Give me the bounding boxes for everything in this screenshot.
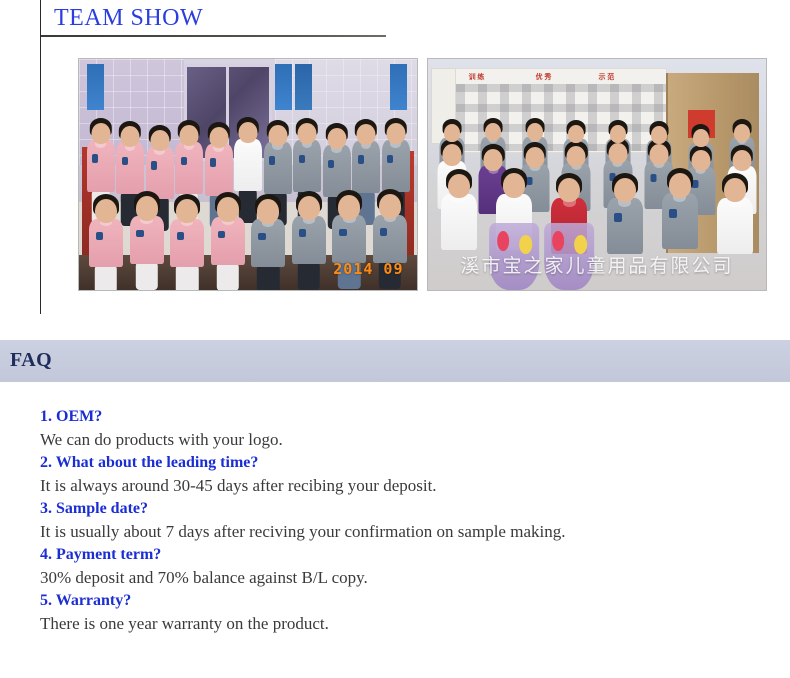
notice-board-title: 优 秀 xyxy=(536,72,552,82)
legs xyxy=(217,263,239,290)
shirt xyxy=(292,216,326,264)
face xyxy=(669,173,691,198)
shirt xyxy=(717,198,753,254)
faq-answer: 30% deposit and 70% balance against B/L … xyxy=(0,566,790,589)
face xyxy=(503,173,525,198)
face xyxy=(525,147,544,168)
face xyxy=(298,196,320,221)
photo-canvas-ceremony: 训 练 优 秀 示 范 溪市宝之家儿童用品有限公司 xyxy=(428,59,766,290)
person xyxy=(248,184,289,276)
faq-question: 5. Warranty? xyxy=(0,589,790,612)
face xyxy=(650,144,669,165)
legs xyxy=(135,262,157,290)
face xyxy=(732,150,751,171)
face xyxy=(527,123,543,141)
photo-watermark: 溪市宝之家儿童用品有限公司 xyxy=(428,251,766,278)
legs xyxy=(298,262,320,290)
faq-answer: It is always around 30-45 days after rec… xyxy=(0,474,790,497)
shirt xyxy=(87,140,115,192)
uniform-badge xyxy=(122,157,128,165)
photo-canvas-factory: 2014 09 xyxy=(79,59,417,290)
wall-poster xyxy=(87,64,104,110)
face xyxy=(724,178,746,203)
person xyxy=(207,184,248,276)
face xyxy=(614,178,636,203)
faq-item: 4. Payment term?30% deposit and 70% bala… xyxy=(0,543,790,589)
team-group-photo-ceremony[interactable]: 训 练 优 秀 示 范 溪市宝之家儿童用品有限公司 xyxy=(427,58,767,291)
face xyxy=(651,126,667,144)
face xyxy=(608,143,627,164)
face xyxy=(239,122,258,143)
faq-item: 2. What about the leading time?It is alw… xyxy=(0,451,790,497)
shirt xyxy=(264,142,292,194)
team-show-section: TEAM SHOW 2014 09 xyxy=(0,0,790,340)
faq-question: 2. What about the leading time? xyxy=(0,451,790,474)
faq-item: 1. OEM?We can do products with your logo… xyxy=(0,405,790,451)
uniform-badge xyxy=(136,230,143,238)
uniform-badge xyxy=(339,229,346,237)
shirt xyxy=(332,215,366,263)
faq-question: 1. OEM? xyxy=(0,405,790,428)
uniform-badge xyxy=(387,155,393,163)
face xyxy=(734,124,750,142)
face xyxy=(268,125,287,146)
uniform-badge xyxy=(358,155,364,163)
shirt xyxy=(175,142,203,194)
shirt xyxy=(293,140,321,192)
faq-list: 1. OEM?We can do products with your logo… xyxy=(0,405,790,635)
face xyxy=(386,123,405,144)
wall-poster xyxy=(275,64,292,110)
wall-poster xyxy=(390,64,407,110)
face xyxy=(217,197,239,222)
shirt xyxy=(170,219,204,267)
shirt xyxy=(373,215,407,263)
face xyxy=(150,130,169,151)
faq-answer: There is one year warranty on the produc… xyxy=(0,612,790,635)
shirt xyxy=(116,142,144,194)
face xyxy=(338,195,360,220)
face xyxy=(327,128,346,149)
team-show-heading: TEAM SHOW xyxy=(54,3,203,33)
uniform-badge xyxy=(669,209,677,218)
person xyxy=(289,184,330,276)
face xyxy=(180,125,199,146)
face xyxy=(257,199,279,224)
uniform-badge xyxy=(218,231,225,239)
uniform-badge xyxy=(650,174,656,182)
legs xyxy=(257,265,279,290)
uniform-badge xyxy=(328,160,334,168)
faq-question: 3. Sample date? xyxy=(0,497,790,520)
face xyxy=(176,199,198,224)
shirt xyxy=(352,141,380,193)
face xyxy=(357,124,376,145)
team-show-underline-rule xyxy=(41,35,386,37)
face xyxy=(444,124,460,142)
face xyxy=(136,196,158,221)
faq-item: 3. Sample date?It is usually about 7 day… xyxy=(0,497,790,543)
face xyxy=(693,129,709,147)
shirt xyxy=(205,144,233,196)
notice-board-title: 示 范 xyxy=(599,72,615,82)
faq-header-label: FAQ xyxy=(10,349,52,372)
legs xyxy=(176,265,198,290)
face xyxy=(95,199,117,224)
shirt xyxy=(251,219,285,267)
faq-item: 5. Warranty?There is one year warranty o… xyxy=(0,589,790,635)
shirt xyxy=(607,198,643,254)
face xyxy=(485,123,501,141)
uniform-badge xyxy=(380,228,387,236)
shirt xyxy=(441,194,477,250)
uniform-badge xyxy=(181,157,187,165)
face xyxy=(567,146,586,167)
face xyxy=(209,127,228,148)
face xyxy=(91,123,110,144)
uniform-badge xyxy=(692,180,698,188)
shirt xyxy=(89,219,123,267)
face xyxy=(558,178,580,203)
shirt xyxy=(662,193,698,249)
person xyxy=(86,184,127,276)
uniform-badge xyxy=(210,158,216,166)
photo-date-stamp: 2014 09 xyxy=(333,260,403,278)
uniform-badge xyxy=(96,232,103,240)
uniform-badge xyxy=(269,156,275,164)
faq-question: 4. Payment term? xyxy=(0,543,790,566)
shirt xyxy=(234,139,262,191)
shirt xyxy=(211,217,245,265)
uniform-badge xyxy=(92,154,98,162)
face xyxy=(379,194,401,219)
face xyxy=(484,149,503,170)
wall-poster xyxy=(295,64,312,110)
face xyxy=(691,150,710,171)
shirt xyxy=(382,140,410,192)
face xyxy=(610,125,626,143)
uniform-badge xyxy=(614,213,622,222)
team-photo-gallery: 2014 09 训 练 优 秀 示 范 溪市宝之家儿童用品有限公司 xyxy=(0,58,790,293)
uniform-badge xyxy=(299,229,306,237)
legs xyxy=(95,265,117,290)
face xyxy=(298,123,317,144)
face xyxy=(568,125,584,143)
notice-board-title: 训 练 xyxy=(469,72,485,82)
faq-answer: We can do products with your logo. xyxy=(0,428,790,451)
team-group-photo-factory[interactable]: 2014 09 xyxy=(78,58,418,291)
uniform-badge xyxy=(177,232,184,240)
uniform-badge xyxy=(151,161,157,169)
face xyxy=(443,144,462,165)
faq-header-bar: FAQ xyxy=(0,340,790,382)
face xyxy=(121,126,140,147)
uniform-badge xyxy=(299,155,305,163)
shirt xyxy=(130,216,164,264)
faq-answer: It is usually about 7 days after recivin… xyxy=(0,520,790,543)
uniform-badge xyxy=(258,233,265,241)
face xyxy=(448,174,470,199)
